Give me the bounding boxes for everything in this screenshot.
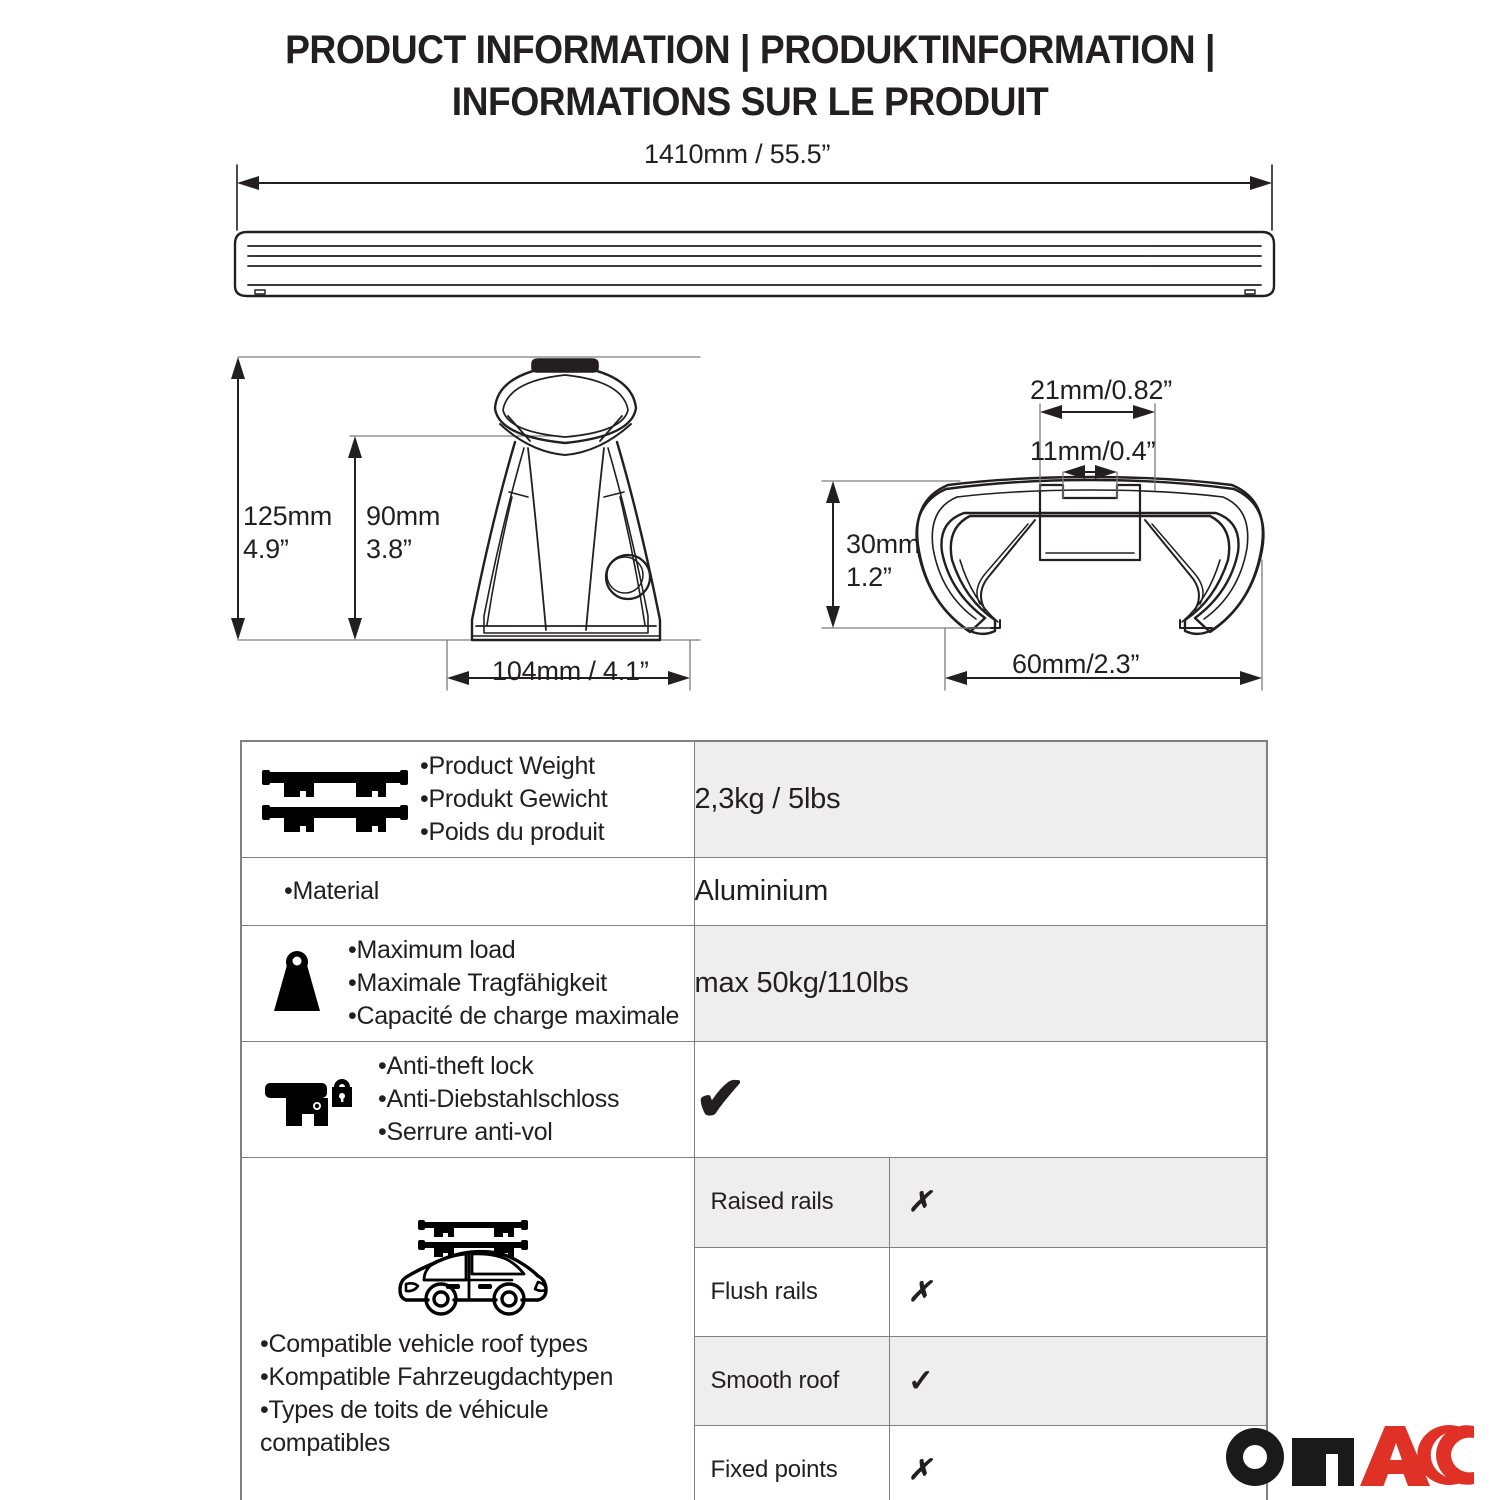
label-line: •Maximale Tragfähigkeit: [348, 967, 679, 1000]
roof-type-mark: ✗: [890, 1425, 1267, 1500]
label-line: •Capacité de charge maximale: [348, 1000, 679, 1033]
spec-labels-weight: •Product Weight •Produkt Gewicht •Poids …: [420, 750, 607, 849]
table-row: •Product Weight •Produkt Gewicht •Poids …: [241, 741, 1267, 858]
dim-profile-height: 30mm 1.2”: [846, 528, 920, 594]
label-line: •Anti-theft lock: [378, 1050, 619, 1083]
label-line: •Product Weight: [420, 750, 607, 783]
table-row: •Material Aluminium: [241, 858, 1267, 926]
spec-value-lock: ✔: [694, 1042, 1267, 1158]
dim-profile-width: 60mm/2.3”: [1012, 648, 1139, 681]
spec-value-material: Aluminium: [694, 858, 1267, 926]
lock-icon: [260, 1065, 356, 1135]
roof-type-name: Flush rails: [695, 1247, 890, 1336]
spec-label-cell-maxload: •Maximum load •Maximale Tragfähigkeit •C…: [241, 926, 694, 1042]
roof-type-name: Raised rails: [695, 1158, 890, 1247]
roof-type-row: Raised rails ✗: [695, 1158, 1267, 1247]
roof-types-subtable: Raised rails ✗ Flush rails ✗ Smooth roof…: [695, 1158, 1267, 1500]
table-row: •Maximum load •Maximale Tragfähigkeit •C…: [241, 926, 1267, 1042]
omac-logo-mark: [1222, 1424, 1480, 1486]
roof-type-mark: ✓: [890, 1336, 1267, 1425]
label-line: •Serrure anti-vol: [378, 1116, 619, 1149]
table-row-roof-types: •Compatible vehicle roof types •Kompatib…: [241, 1158, 1267, 1500]
spec-label-cell-weight: •Product Weight •Produkt Gewicht •Poids …: [241, 741, 694, 858]
roof-type-name: Fixed points: [695, 1425, 890, 1500]
spec-label-cell-material: •Material: [241, 858, 694, 926]
label-line: •Kompatible Fahrzeugdachtypen: [260, 1361, 684, 1394]
roof-types-subtable-cell: Raised rails ✗ Flush rails ✗ Smooth roof…: [694, 1158, 1267, 1500]
car-with-rack-icon: [260, 1208, 684, 1320]
roof-types-label-cell: •Compatible vehicle roof types •Kompatib…: [241, 1158, 694, 1500]
label-line: •Material: [284, 875, 379, 908]
spec-labels-material: •Material: [284, 875, 379, 908]
roof-type-name: Smooth roof: [695, 1336, 890, 1425]
label-line: •Anti-Diebstahlschloss: [378, 1083, 619, 1116]
dim-bar-length: 1410mm / 55.5”: [644, 138, 830, 171]
dim-tower-height-total: 125mm 4.9”: [243, 500, 332, 566]
spec-labels-lock: •Anti-theft lock •Anti-Diebstahlschloss …: [378, 1050, 619, 1149]
spec-value-maxload: max 50kg/110lbs: [694, 926, 1267, 1042]
label-line: •Poids du produit: [420, 816, 607, 849]
spec-label-cell-lock: •Anti-theft lock •Anti-Diebstahlschloss …: [241, 1042, 694, 1158]
dim-tower-width: 104mm / 4.1”: [492, 655, 649, 688]
dim-slot-inner: 11mm/0.4”: [1030, 435, 1155, 468]
label-line: compatibles: [260, 1427, 684, 1460]
roof-type-row: Smooth roof ✓: [695, 1336, 1267, 1425]
roof-type-row: Flush rails ✗: [695, 1247, 1267, 1336]
table-row: •Anti-theft lock •Anti-Diebstahlschloss …: [241, 1042, 1267, 1158]
specification-table: •Product Weight •Produkt Gewicht •Poids …: [240, 740, 1268, 1500]
label-line: •Types de toits de véhicule: [260, 1394, 684, 1427]
spec-labels-maxload: •Maximum load •Maximale Tragfähigkeit •C…: [348, 934, 679, 1033]
label-line: •Produkt Gewicht: [420, 783, 607, 816]
crossbars-icon: [260, 764, 410, 836]
roof-type-mark: ✗: [890, 1247, 1267, 1336]
label-line: •Compatible vehicle roof types: [260, 1328, 684, 1361]
spec-value-weight: 2,3kg / 5lbs: [694, 741, 1267, 858]
label-line: •Maximum load: [348, 934, 679, 967]
roof-type-row: Fixed points ✗: [695, 1425, 1267, 1500]
dim-tower-height-inner: 90mm 3.8”: [366, 500, 440, 566]
roof-type-mark: ✗: [890, 1158, 1267, 1247]
omac-logo: [1222, 1424, 1480, 1486]
roof-types-labels: •Compatible vehicle roof types •Kompatib…: [260, 1328, 684, 1460]
product-information-sheet: PRODUCT INFORMATION | PRODUKTINFORMATION…: [0, 0, 1500, 1500]
weight-icon: [260, 947, 334, 1021]
dim-slot-outer: 21mm/0.82”: [1030, 374, 1172, 407]
